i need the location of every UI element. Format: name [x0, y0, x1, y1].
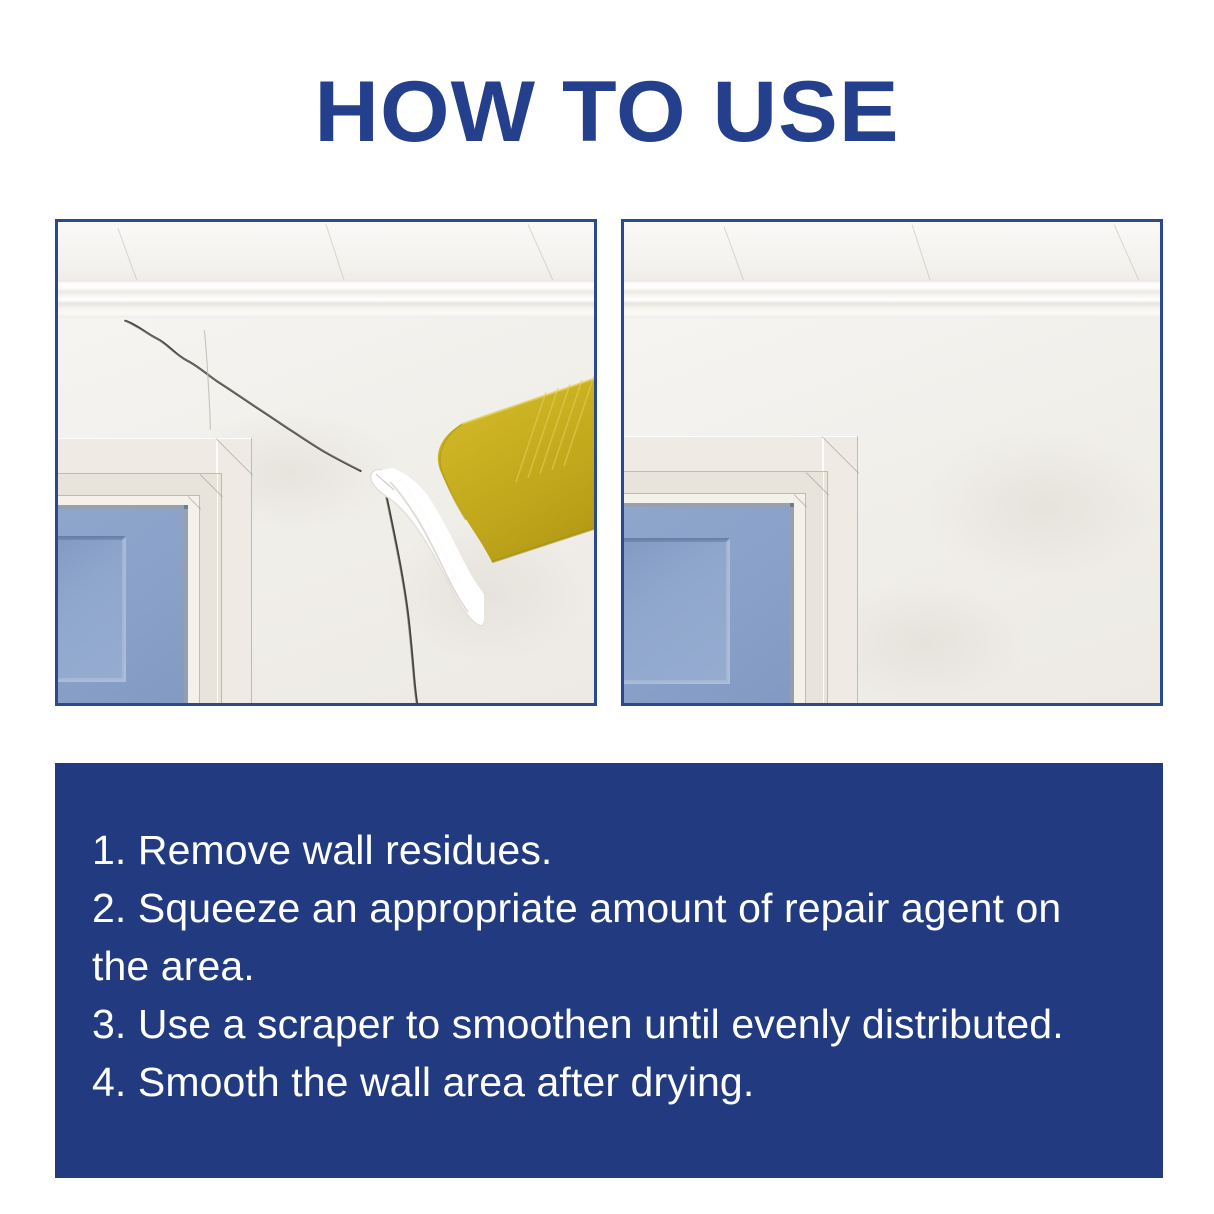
wall-texture	[924, 432, 1160, 582]
repair-agent-tube	[396, 374, 594, 570]
casing-bead-edge	[199, 496, 200, 703]
photo-before-scene	[58, 222, 594, 703]
crown-molding	[58, 280, 594, 318]
instruction-step: 2. Squeeze an appropriate amount of repa…	[92, 879, 1135, 937]
door-casing-inner-top	[58, 474, 222, 496]
instruction-step: 3. Use a scraper to smoothen until evenl…	[92, 995, 1135, 1053]
door-reveal-shadow	[184, 505, 188, 703]
door-casing-inner-side	[806, 472, 828, 703]
casing-bead-edge	[805, 494, 806, 703]
photo-after	[621, 219, 1163, 706]
photo-after-scene	[624, 222, 1160, 703]
casing-outer-highlight	[823, 436, 824, 703]
ceiling	[58, 222, 594, 282]
casing-step-edge	[58, 473, 222, 474]
casing-bead-edge	[58, 495, 200, 496]
door-panel-bevel	[624, 538, 730, 684]
door-reveal-shadow	[790, 503, 794, 703]
crown-molding	[624, 280, 1160, 318]
photo-before	[55, 219, 597, 706]
instruction-step: 1. Remove wall residues.	[92, 821, 1135, 879]
instruction-step: 4. Smooth the wall area after drying.	[92, 1053, 1135, 1111]
door-casing-inner-top	[624, 472, 828, 494]
casing-outer-highlight	[217, 438, 218, 703]
ceiling	[624, 222, 1160, 282]
casing-bead-edge	[624, 493, 806, 494]
photo-gallery	[55, 219, 1163, 706]
door-casing-inner-side	[200, 474, 222, 703]
instructions-panel: 1. Remove wall residues. 2. Squeeze an a…	[55, 763, 1163, 1178]
casing-outer-edge	[251, 438, 252, 703]
casing-step-edge	[221, 474, 222, 703]
casing-step-edge	[827, 472, 828, 703]
instructions-list: 1. Remove wall residues. 2. Squeeze an a…	[92, 821, 1135, 1111]
page-title: HOW TO USE	[0, 66, 1214, 158]
door-panel-bevel	[58, 536, 126, 682]
instruction-step-continuation: the area.	[92, 937, 1135, 995]
casing-outer-edge	[857, 436, 858, 703]
casing-step-edge	[624, 471, 828, 472]
